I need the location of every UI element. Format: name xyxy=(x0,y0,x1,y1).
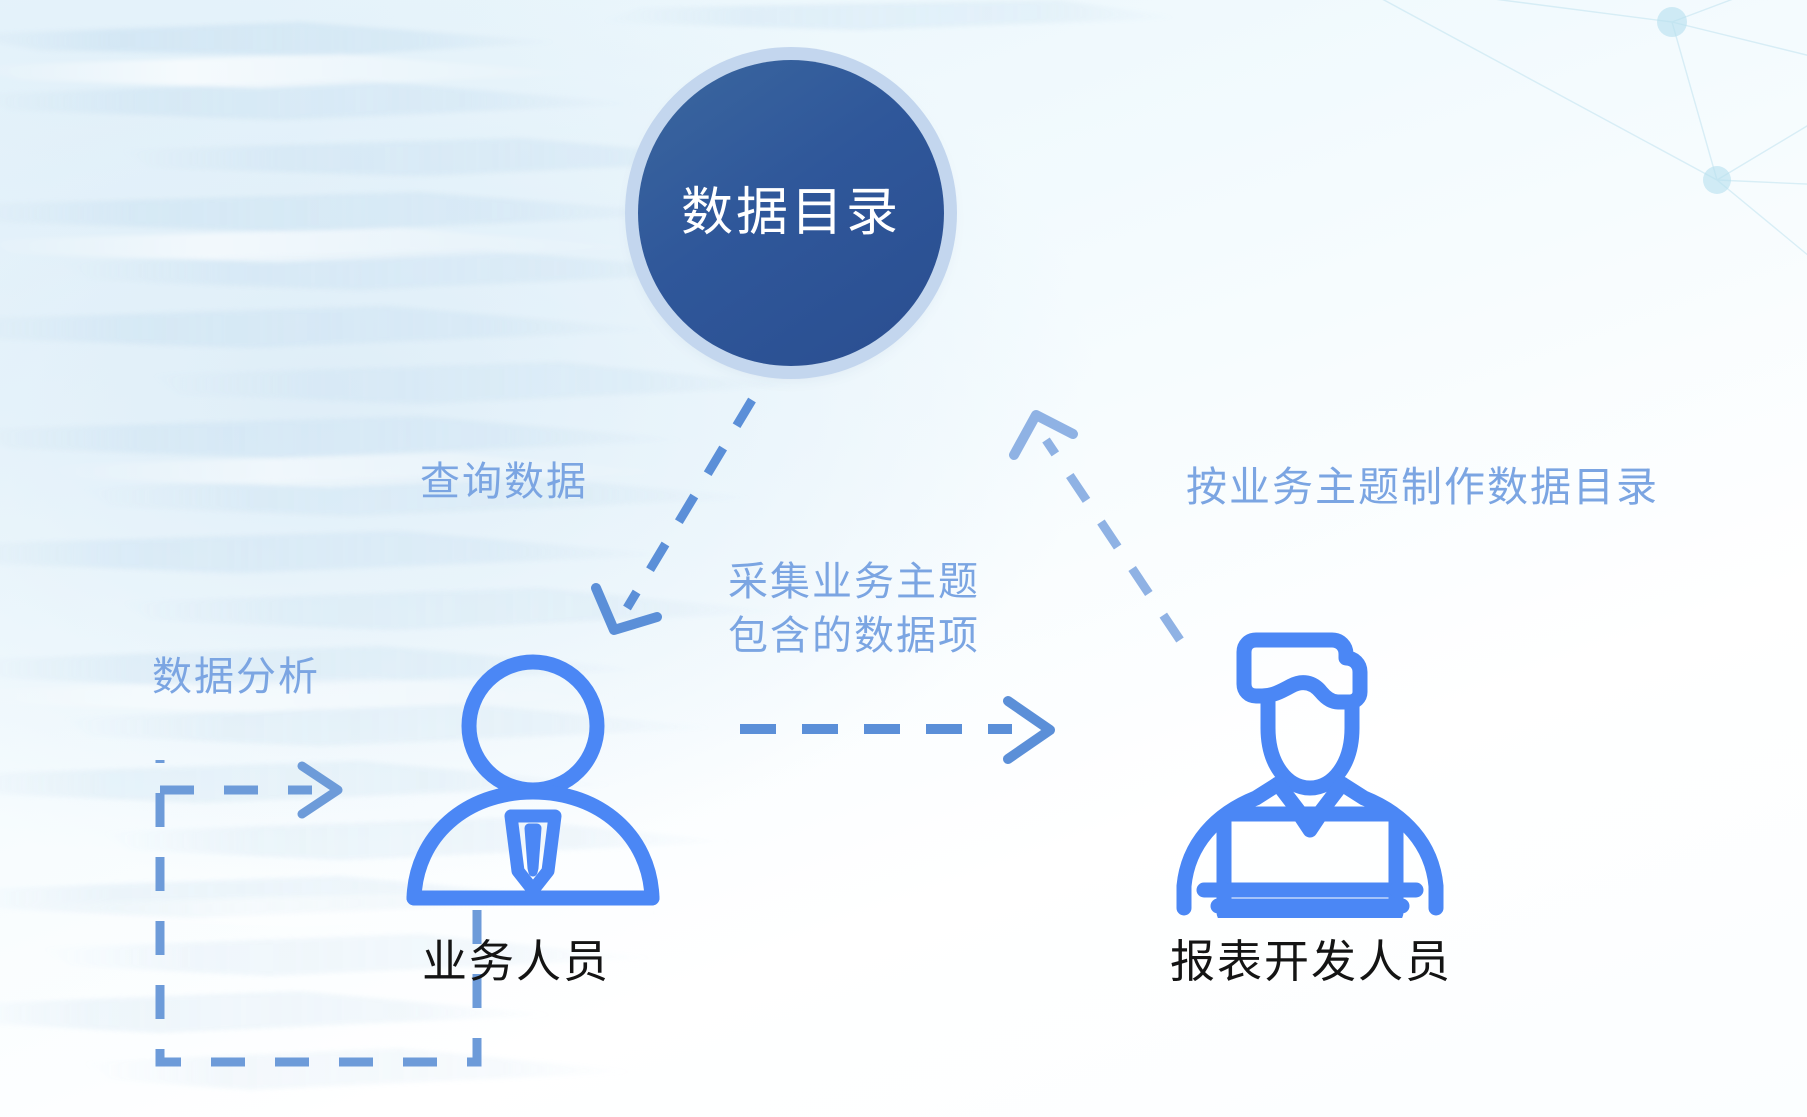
report-developer-name: 报表开发人员 xyxy=(1170,925,1452,990)
network-constellation-graphic xyxy=(1287,0,1807,420)
diagram-canvas: 数据目录 查询数据 数据分析 采集业务主题 包含的数据项 按业务主题制作数据目录 xyxy=(0,0,1807,1117)
developer-laptop-icon[interactable] xyxy=(1160,618,1460,918)
business-person-name: 业务人员 xyxy=(422,925,610,990)
edge-label-build-catalog: 按业务主题制作数据目录 xyxy=(1186,460,1659,515)
data-catalog-node[interactable]: 数据目录 xyxy=(638,60,944,366)
edge-label-collect-data-items: 采集业务主题 包含的数据项 xyxy=(728,555,980,663)
edge-label-query-data: 查询数据 xyxy=(420,455,588,509)
data-catalog-node-label: 数据目录 xyxy=(681,187,901,239)
edge-label-data-analysis: 数据分析 xyxy=(152,650,320,704)
business-person-icon[interactable] xyxy=(398,640,668,910)
necktie-knot-icon xyxy=(529,828,537,872)
